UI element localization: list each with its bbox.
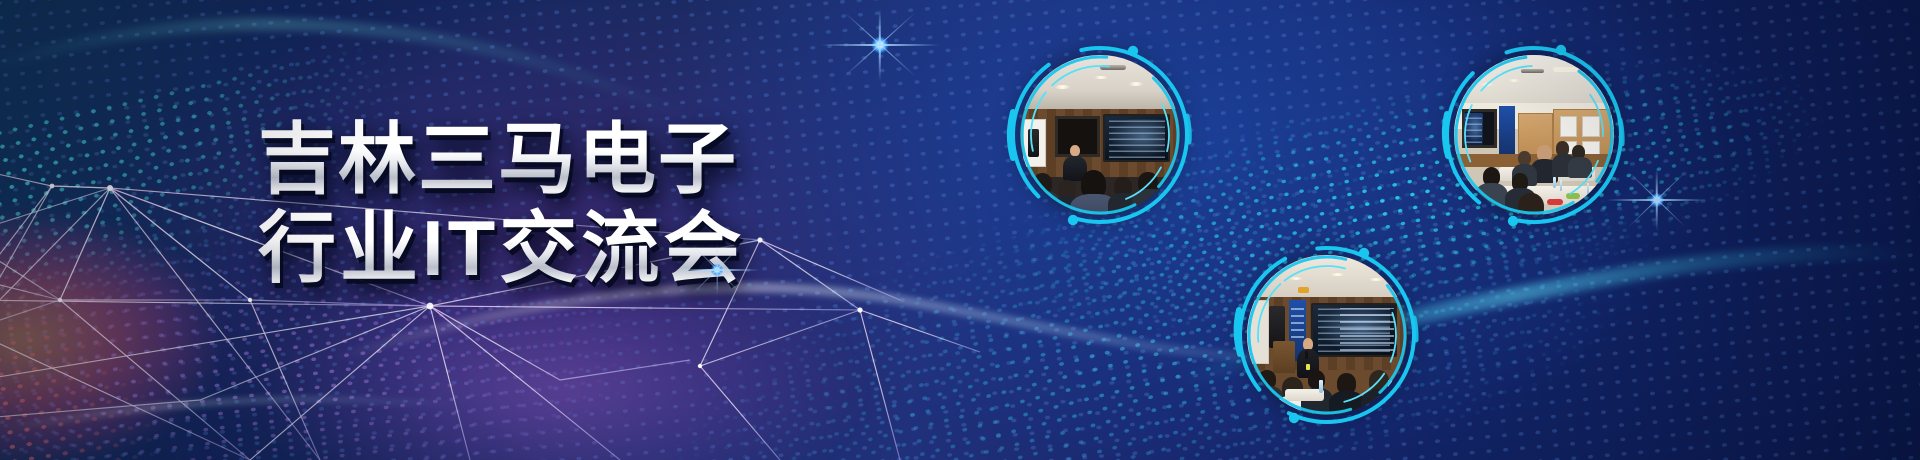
event-banner: 吉林三马电子 行业IT交流会 <box>0 0 1920 460</box>
violet-gradient-glow <box>230 210 990 460</box>
tech-ring-decoration-3 <box>1230 238 1424 432</box>
wave-crest-streaks <box>0 0 1920 460</box>
photo-badge-seminar-attendees[interactable] <box>1437 38 1631 232</box>
photo-badge-training-speaker[interactable] <box>1230 238 1424 432</box>
warm-wave-dots <box>0 0 1920 460</box>
polygon-wireframe-network <box>0 0 1000 460</box>
title-line-2: 行业IT交流会 <box>258 207 818 290</box>
tech-ring-decoration-2 <box>1437 38 1631 232</box>
tech-ring-decoration-1 <box>1003 38 1197 232</box>
lens-flare-mid-icon <box>674 227 760 313</box>
warm-gradient-glow <box>0 150 490 460</box>
violet-wave-dots <box>0 0 1920 460</box>
title-line-1: 吉林三马电子 <box>258 118 818 201</box>
cyan-wave-dots <box>0 0 1920 460</box>
cyan-wave-dots-lower <box>0 0 1920 460</box>
photo-badge-conference-presenter[interactable] <box>1003 38 1197 232</box>
lens-flare-top-icon <box>820 0 940 105</box>
halftone-dot-field <box>0 0 1920 460</box>
banner-title-block: 吉林三马电子 行业IT交流会 <box>258 118 818 291</box>
vignette-overlay <box>0 0 1920 460</box>
teal-wave-dots <box>0 0 1920 460</box>
